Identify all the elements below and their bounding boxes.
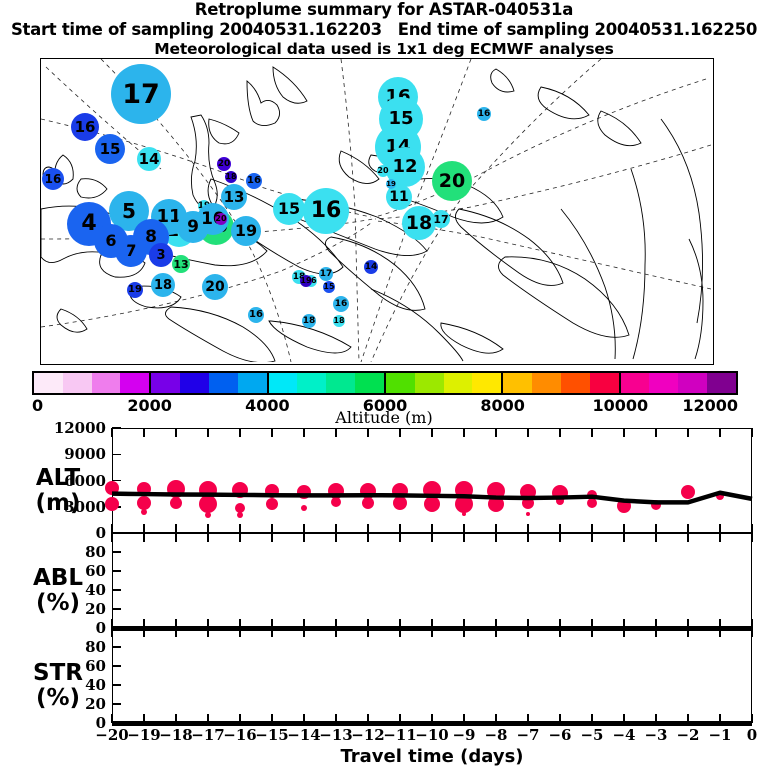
x-tickmark — [143, 533, 145, 542]
x-tickmark — [431, 628, 433, 637]
y-tickmark — [112, 646, 121, 648]
y-tickmark — [112, 608, 121, 610]
x-tickmark — [463, 628, 465, 637]
x-tickmark — [655, 533, 657, 542]
x-tickmark — [367, 533, 369, 542]
x-tickmark — [175, 628, 177, 637]
x-tickmark — [303, 533, 305, 542]
x-tickmark — [143, 628, 145, 637]
x-tickmark — [175, 533, 177, 542]
y-tick-label: 80 — [50, 638, 106, 656]
x-tickmark — [527, 628, 529, 637]
x-tickmark — [751, 533, 753, 542]
x-tickmark — [719, 533, 721, 542]
y-tick-label: 80 — [50, 543, 106, 561]
y-tickmark — [112, 589, 121, 591]
x-tickmark — [623, 628, 625, 637]
x-tickmark — [335, 533, 337, 542]
x-tickmark — [271, 628, 273, 637]
x-tickmark — [335, 628, 337, 637]
x-tickmark — [687, 533, 689, 542]
alt-mean-line — [0, 0, 768, 768]
x-tickmark — [239, 628, 241, 637]
y-tick-label: 20 — [50, 600, 106, 618]
x-tickmark — [559, 628, 561, 637]
x-tickmark — [431, 533, 433, 542]
y-tickmark — [112, 570, 121, 572]
x-tickmark — [239, 533, 241, 542]
str-series-line — [112, 721, 752, 726]
y-tick-label: 40 — [50, 581, 106, 599]
x-tickmark — [655, 628, 657, 637]
x-tickmark — [527, 533, 529, 542]
x-tickmark — [623, 533, 625, 542]
x-tickmark — [687, 628, 689, 637]
y-tick-label: 60 — [50, 562, 106, 580]
y-tick-label: 20 — [50, 695, 106, 713]
x-tickmark — [495, 533, 497, 542]
x-tickmark — [591, 628, 593, 637]
x-tickmark — [367, 628, 369, 637]
y-tickmark — [112, 684, 121, 686]
x-tickmark — [271, 533, 273, 542]
x-tickmark — [399, 628, 401, 637]
y-tick-label: 60 — [50, 657, 106, 675]
x-tickmark — [399, 533, 401, 542]
y-tick-label: 0 — [50, 714, 106, 732]
x-tickmark — [207, 533, 209, 542]
x-tickmark — [495, 628, 497, 637]
x-tickmark — [559, 533, 561, 542]
x-tickmark — [303, 628, 305, 637]
x-tickmark — [751, 628, 753, 637]
y-tickmark — [112, 551, 121, 553]
x-tickmark — [207, 628, 209, 637]
y-tick-label: 0 — [50, 619, 106, 637]
y-tickmark — [112, 665, 121, 667]
x-tickmark — [719, 628, 721, 637]
x-tickmark — [111, 533, 113, 542]
y-tickmark — [112, 703, 121, 705]
x-tickmark — [591, 533, 593, 542]
y-tick-label: 40 — [50, 676, 106, 694]
x-tickmark — [463, 533, 465, 542]
x-tickmark — [111, 628, 113, 637]
